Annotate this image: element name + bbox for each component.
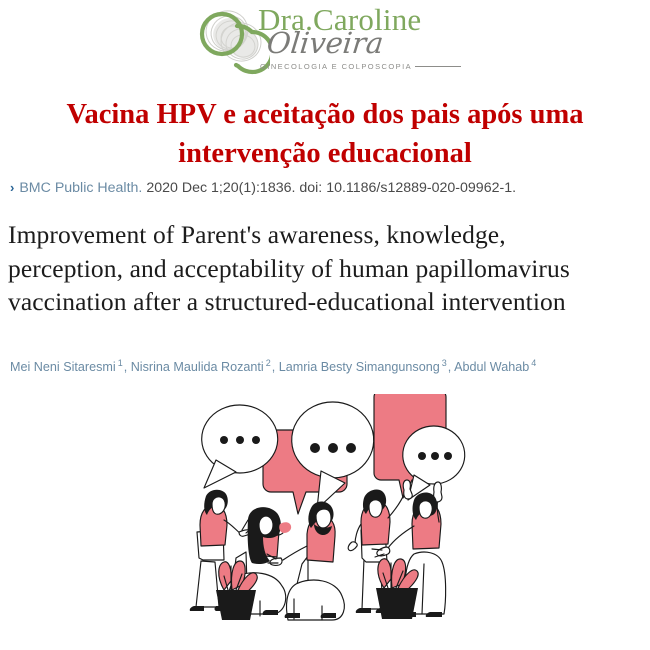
author-item[interactable]: Abdul Wahab4 xyxy=(454,360,537,374)
author-separator: , xyxy=(124,360,131,374)
article-illustration: .ol { fill:#ffffff; stroke:#1a1a1a; stro… xyxy=(176,394,476,634)
page-title-portuguese: Vacina HPV e aceitação dos pais após uma… xyxy=(25,96,625,174)
author-affiliation: 4 xyxy=(529,358,537,368)
clinic-logo: Dra.Caroline Oliveira GINECOLOGIA E COLP… xyxy=(0,2,650,82)
author-affiliation: 1 xyxy=(116,358,124,368)
logo-tagline-text: GINECOLOGIA E COLPOSCOPIA xyxy=(260,62,412,71)
article-title: Improvement of Parent's awareness, knowl… xyxy=(8,218,588,319)
author-item[interactable]: Mei Neni Sitaresmi1 xyxy=(10,360,124,374)
citation-details: 2020 Dec 1;20(1):1836. doi: 10.1186/s128… xyxy=(146,180,516,196)
page-title-line-2: intervenção educacional xyxy=(25,135,625,174)
chevron-right-icon: › xyxy=(10,180,14,195)
journal-name[interactable]: BMC Public Health. xyxy=(19,180,142,196)
author-list: Mei Neni Sitaresmi1, Nisrina Maulida Roz… xyxy=(10,358,537,374)
citation-line[interactable]: › BMC Public Health. 2020 Dec 1;20(1):18… xyxy=(10,180,516,196)
logo-brand-script: Oliveira xyxy=(265,29,384,58)
author-affiliation: 2 xyxy=(264,358,272,368)
author-item[interactable]: Lamria Besty Simangunsong3 xyxy=(279,360,448,374)
author-name: Nisrina Maulida Rozanti xyxy=(131,360,264,374)
page-title-line-1: Vacina HPV e aceitação dos pais após uma xyxy=(25,96,625,135)
logo-inner: Dra.Caroline Oliveira GINECOLOGIA E COLP… xyxy=(196,2,456,82)
potted-plant-left xyxy=(216,561,257,620)
author-item[interactable]: Nisrina Maulida Rozanti2 xyxy=(131,360,272,374)
logo-tagline-rule xyxy=(415,66,461,67)
author-name: Lamria Besty Simangunsong xyxy=(279,360,440,374)
author-name: Abdul Wahab xyxy=(454,360,529,374)
author-name: Mei Neni Sitaresmi xyxy=(10,360,116,374)
author-affiliation: 3 xyxy=(440,358,448,368)
logo-wordmark: Dra.Caroline Oliveira GINECOLOGIA E COLP… xyxy=(258,2,468,80)
author-separator: , xyxy=(272,360,279,374)
logo-tagline: GINECOLOGIA E COLPOSCOPIA xyxy=(260,62,461,71)
